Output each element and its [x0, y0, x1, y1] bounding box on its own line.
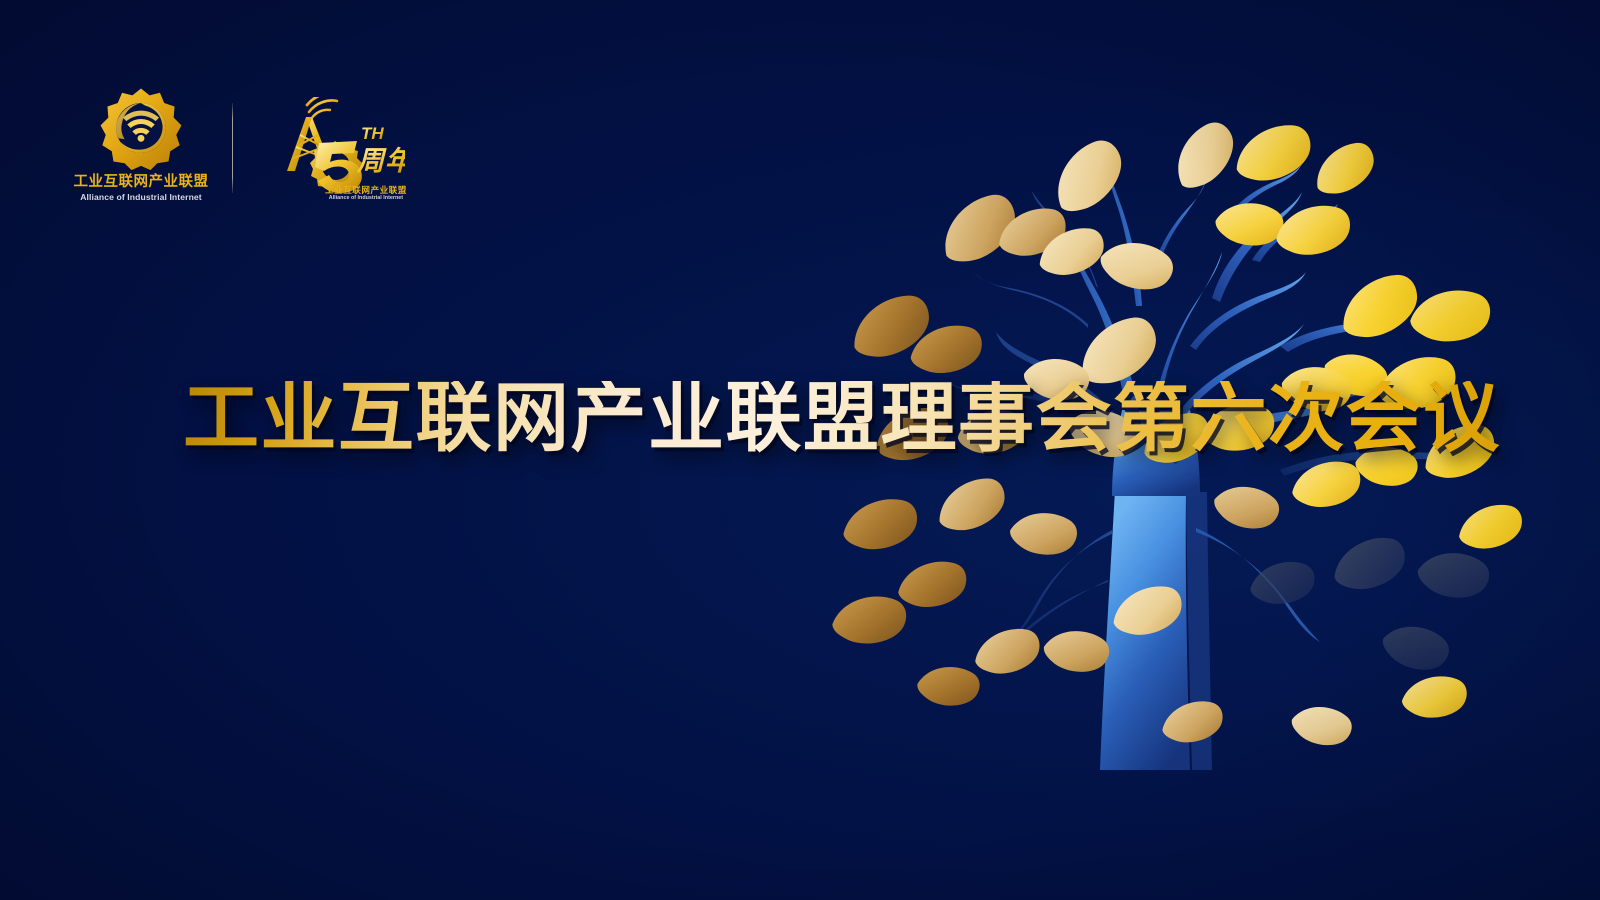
slide-canvas: 工业互联网产业联盟 Alliance of Industrial Interne… [0, 0, 1600, 900]
anniversary-logo[interactable]: TH 周年 工业互联网产业联盟 Alliance of Industrial I… [275, 90, 405, 202]
page-title: 工业互联网产业联盟理事会第六次会议 [183, 371, 1363, 467]
primary-logo-name-cn: 工业互联网产业联盟 [74, 175, 209, 190]
svg-text:周年: 周年 [356, 146, 405, 176]
gear-wifi-icon [98, 85, 184, 171]
primary-logo[interactable]: 工业互联网产业联盟 Alliance of Industrial Interne… [78, 90, 204, 202]
anniversary-name-cn: 工业互联网产业联盟 [325, 186, 407, 195]
primary-logo-name-en: Alliance of Industrial Internet [80, 193, 202, 202]
svg-text:TH: TH [361, 124, 384, 143]
logo-bar: 工业互联网产业联盟 Alliance of Industrial Interne… [78, 88, 428, 203]
anniversary-logo-caption: 工业互联网产业联盟 Alliance of Industrial Interne… [325, 186, 407, 202]
antenna-tower-5-icon: TH 周年 工业互联网产业联盟 Alliance of Industrial I… [275, 97, 405, 202]
logo-divider [232, 103, 233, 193]
page-title-text: 工业互联网产业联盟理事会第六次会议 [183, 381, 1501, 457]
anniversary-name-en: Alliance of Industrial Internet [325, 196, 407, 201]
